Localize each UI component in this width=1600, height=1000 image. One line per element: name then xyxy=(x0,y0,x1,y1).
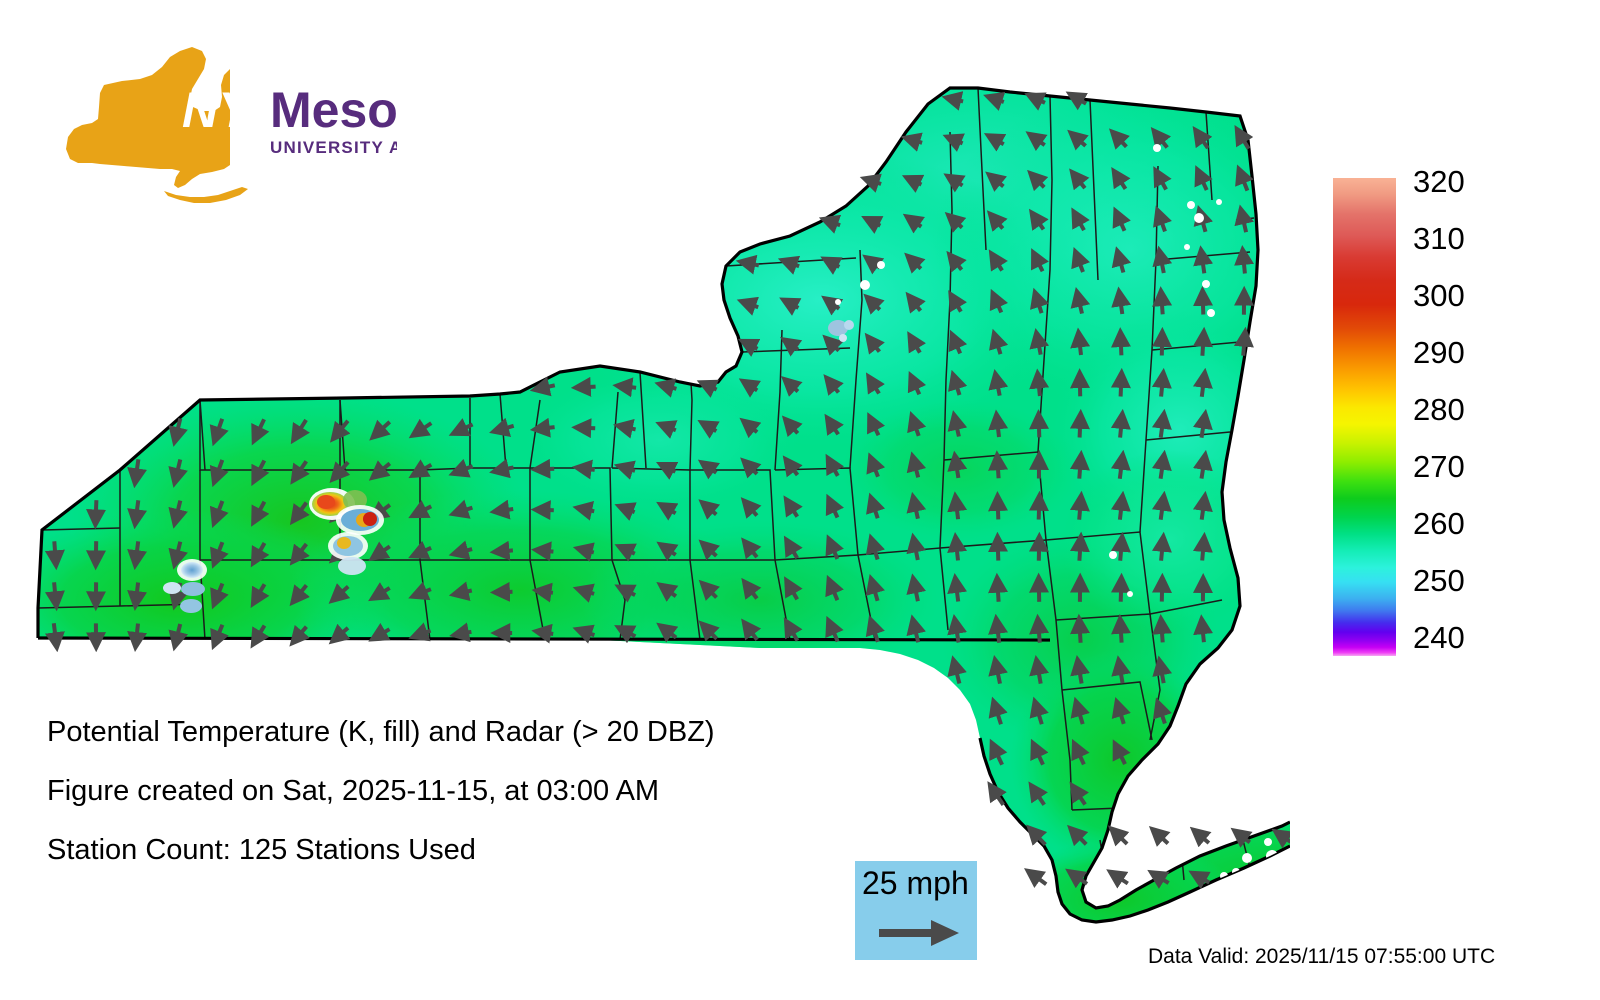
right-arrow-icon xyxy=(879,918,959,948)
caption-title: Potential Temperature (K, fill) and Rada… xyxy=(47,718,907,747)
colorbar-tick-250: 250 xyxy=(1413,565,1465,596)
colorbar-svg xyxy=(1333,178,1396,656)
southern-state-border xyxy=(38,638,1050,640)
colorbar-gradient xyxy=(1333,178,1396,656)
colorbar-tick-290: 290 xyxy=(1413,337,1465,368)
colorbar-tick-300: 300 xyxy=(1413,280,1465,311)
caption-station-count: Station Count: 125 Stations Used xyxy=(47,836,907,865)
colorbar-tick-240: 240 xyxy=(1413,622,1465,653)
data-valid-timestamp: Data Valid: 2025/11/15 07:55:00 UTC xyxy=(1148,946,1495,968)
colorbar: 320 310 300 290 280 270 260 250 240 xyxy=(1333,178,1583,658)
wind-speed-legend: 25 mph xyxy=(855,861,977,960)
colorbar-tick-310: 310 xyxy=(1413,223,1465,254)
colorbar-tick-labels: 320 310 300 290 280 270 260 250 240 xyxy=(1413,178,1583,656)
figure-caption: Potential Temperature (K, fill) and Rada… xyxy=(47,718,907,895)
colorbar-tick-270: 270 xyxy=(1413,451,1465,482)
colorbar-tick-320: 320 xyxy=(1413,166,1465,197)
caption-created: Figure created on Sat, 2025-11-15, at 03… xyxy=(47,777,907,806)
wind-legend-label: 25 mph xyxy=(862,866,969,900)
colorbar-tick-280: 280 xyxy=(1413,394,1465,425)
colorbar-tick-260: 260 xyxy=(1413,508,1465,539)
